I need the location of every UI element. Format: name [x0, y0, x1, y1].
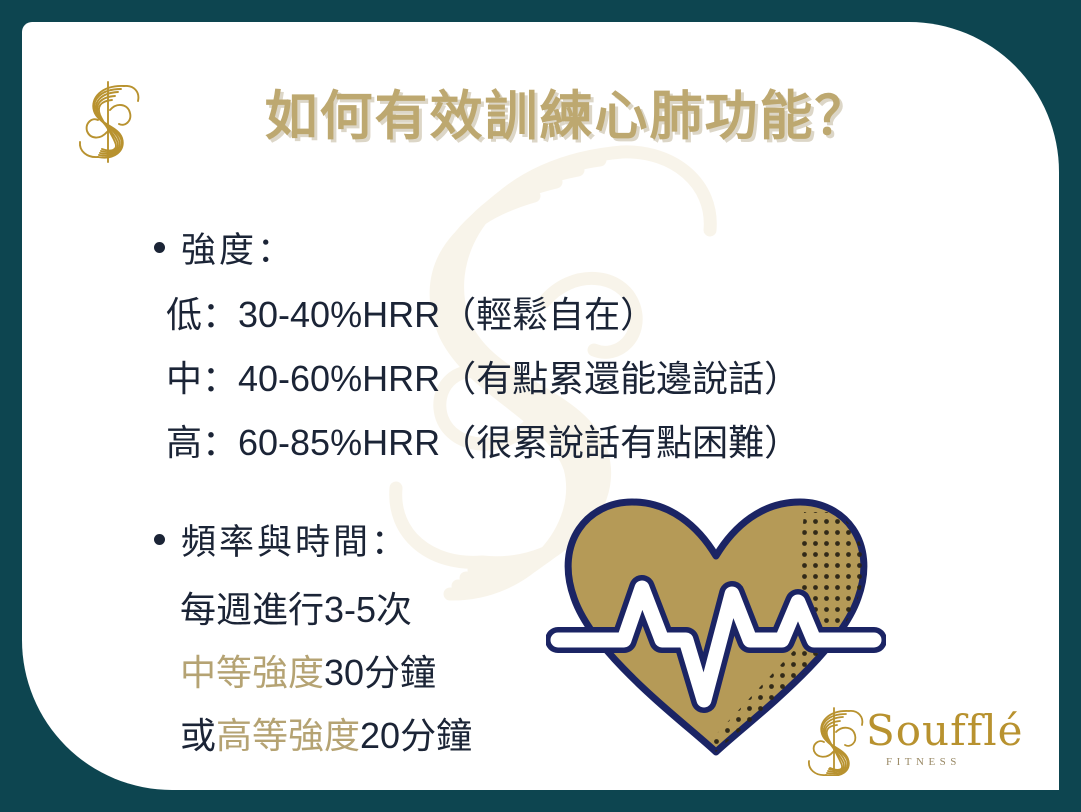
section-frequency: 頻率與時間： 每週進行3-5次 中等強度30分鐘 或高等強度20分鐘 — [154, 514, 472, 770]
frequency-line-list: 每週進行3-5次 中等強度30分鐘 或高等強度20分鐘 — [180, 581, 472, 759]
brand-monogram-icon — [74, 74, 142, 166]
moderate-intensity-label: 中等強度 — [180, 652, 324, 693]
bullet-row-intensity: 強度： — [154, 222, 800, 273]
frequency-line-moderate: 中等強度30分鐘 — [180, 644, 472, 696]
vigorous-duration-value: 20分鐘 — [360, 715, 472, 756]
moderate-duration-value: 30分鐘 — [324, 652, 436, 693]
brand-name-text: Soufflé — [866, 706, 1024, 755]
brand-logo: Soufflé FITNESS — [802, 698, 1052, 784]
brand-monogram-icon — [802, 702, 866, 776]
intensity-line-high: 高：60-85%HRR（很累說話有點困難） — [166, 414, 800, 466]
bullet-row-frequency: 頻率與時間： — [154, 514, 472, 565]
frequency-line-weekly: 每週進行3-5次 — [180, 581, 472, 633]
frequency-weekly-text: 每週進行3-5次 — [180, 589, 412, 630]
slide-white-panel: 如何有效訓練心肺功能？ 強度： 低：30-40%HRR（輕鬆自在） 中：40-6… — [22, 22, 1059, 790]
slide-canvas: 如何有效訓練心肺功能？ 強度： 低：30-40%HRR（輕鬆自在） 中：40-6… — [0, 0, 1081, 812]
intensity-line-medium: 中：40-60%HRR（有點累還能邊說話） — [166, 350, 800, 402]
section-frequency-heading: 頻率與時間： — [181, 514, 409, 565]
intensity-line-low: 低：30-40%HRR（輕鬆自在） — [166, 286, 800, 338]
brand-wordmark: Soufflé FITNESS — [864, 698, 1054, 778]
frequency-line-vigorous: 或高等強度20分鐘 — [180, 707, 472, 759]
intensity-line-list: 低：30-40%HRR（輕鬆自在） 中：40-60%HRR（有點累還能邊說話） … — [166, 286, 800, 466]
section-intensity-heading: 強度： — [181, 222, 295, 273]
section-intensity: 強度： 低：30-40%HRR（輕鬆自在） 中：40-60%HRR（有點累還能邊… — [154, 222, 800, 478]
brand-tagline-text: FITNESS — [886, 756, 961, 768]
bullet-dot-icon — [154, 534, 165, 545]
page-title: 如何有效訓練心肺功能？ — [197, 74, 937, 150]
bullet-dot-icon — [154, 242, 165, 253]
or-connector: 或 — [180, 715, 216, 756]
vigorous-intensity-label: 高等強度 — [216, 715, 360, 756]
